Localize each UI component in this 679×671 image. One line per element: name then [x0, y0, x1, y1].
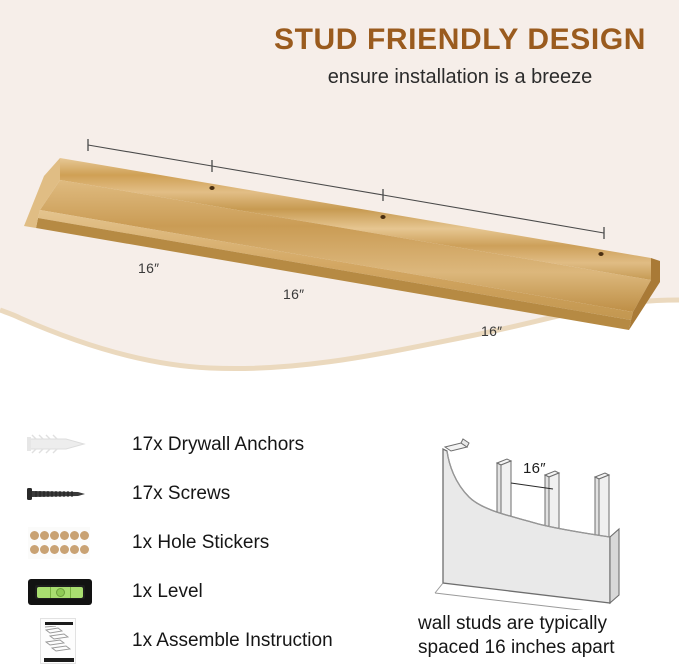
mounting-hole	[209, 186, 214, 190]
sticker-dot	[40, 531, 49, 540]
sticker-dot	[30, 531, 39, 540]
stud-dimension-label: 16″	[523, 460, 546, 477]
level-mark-right	[70, 587, 71, 598]
drywall-floor-line	[435, 583, 443, 593]
sticker-dot	[60, 531, 69, 540]
sticker-dot	[70, 545, 79, 554]
drywall-side-face	[610, 529, 619, 603]
sticker-dot	[80, 545, 89, 554]
level-mark-left	[50, 587, 51, 598]
level-icon	[22, 571, 100, 613]
mounting-hole	[380, 215, 385, 219]
hole-stickers-icon	[22, 522, 100, 564]
shelf-dimension-label-3: 16″	[481, 323, 502, 339]
list-item: 17x Screws	[0, 469, 400, 518]
screw-icon	[22, 473, 100, 515]
level-bubble	[56, 588, 65, 597]
part-label: 17x Screws	[132, 484, 230, 503]
page-title: STUD FRIENDLY DESIGN	[255, 24, 665, 56]
caption-line-2: spaced 16 inches apart	[418, 636, 668, 660]
sticker-dot	[70, 531, 79, 540]
page-subtitle: ensure installation is a breeze	[255, 66, 665, 88]
drywall-anchor-icon	[22, 424, 100, 466]
part-label: 1x Hole Stickers	[132, 533, 269, 552]
list-item: 17x Drywall Anchors	[0, 420, 400, 469]
sticker-dot	[40, 545, 49, 554]
infographic-canvas: STUD FRIENDLY DESIGN ensure installation…	[0, 0, 679, 671]
list-item: 1x Assemble Instruction	[0, 616, 400, 665]
level-body	[28, 579, 92, 605]
list-item: 1x Hole Stickers	[0, 518, 400, 567]
shelf-dimension-label-2: 16″	[283, 286, 304, 302]
part-label: 1x Assemble Instruction	[132, 631, 333, 650]
shelf-illustration: 16″ 16″ 16″	[0, 130, 679, 350]
sticker-sheet	[28, 527, 90, 559]
caption-line-1: wall studs are typically	[418, 612, 668, 636]
sticker-dot	[50, 545, 59, 554]
mounting-hole	[598, 252, 603, 256]
parts-list: 17x Drywall Anchors 17x Screws	[0, 420, 400, 665]
instruction-manual-icon	[22, 620, 100, 662]
part-label: 17x Drywall Anchors	[132, 435, 304, 454]
sticker-dot	[30, 545, 39, 554]
sticker-dot	[50, 531, 59, 540]
stud-post	[595, 473, 609, 545]
manual-page	[40, 618, 76, 664]
sticker-dot	[60, 545, 69, 554]
stud-diagram-caption: wall studs are typically spaced 16 inche…	[418, 612, 668, 660]
part-label: 1x Level	[132, 582, 203, 601]
manual-header-bar	[45, 622, 73, 625]
wall-stud-diagram: 16″	[405, 425, 679, 610]
shelf-dimension-label-1: 16″	[138, 260, 159, 276]
header-block: STUD FRIENDLY DESIGN ensure installation…	[255, 24, 665, 88]
list-item: 1x Level	[0, 567, 400, 616]
dimension-line-1	[88, 145, 212, 166]
manual-footer-bar	[44, 658, 74, 662]
sticker-dot	[80, 531, 89, 540]
